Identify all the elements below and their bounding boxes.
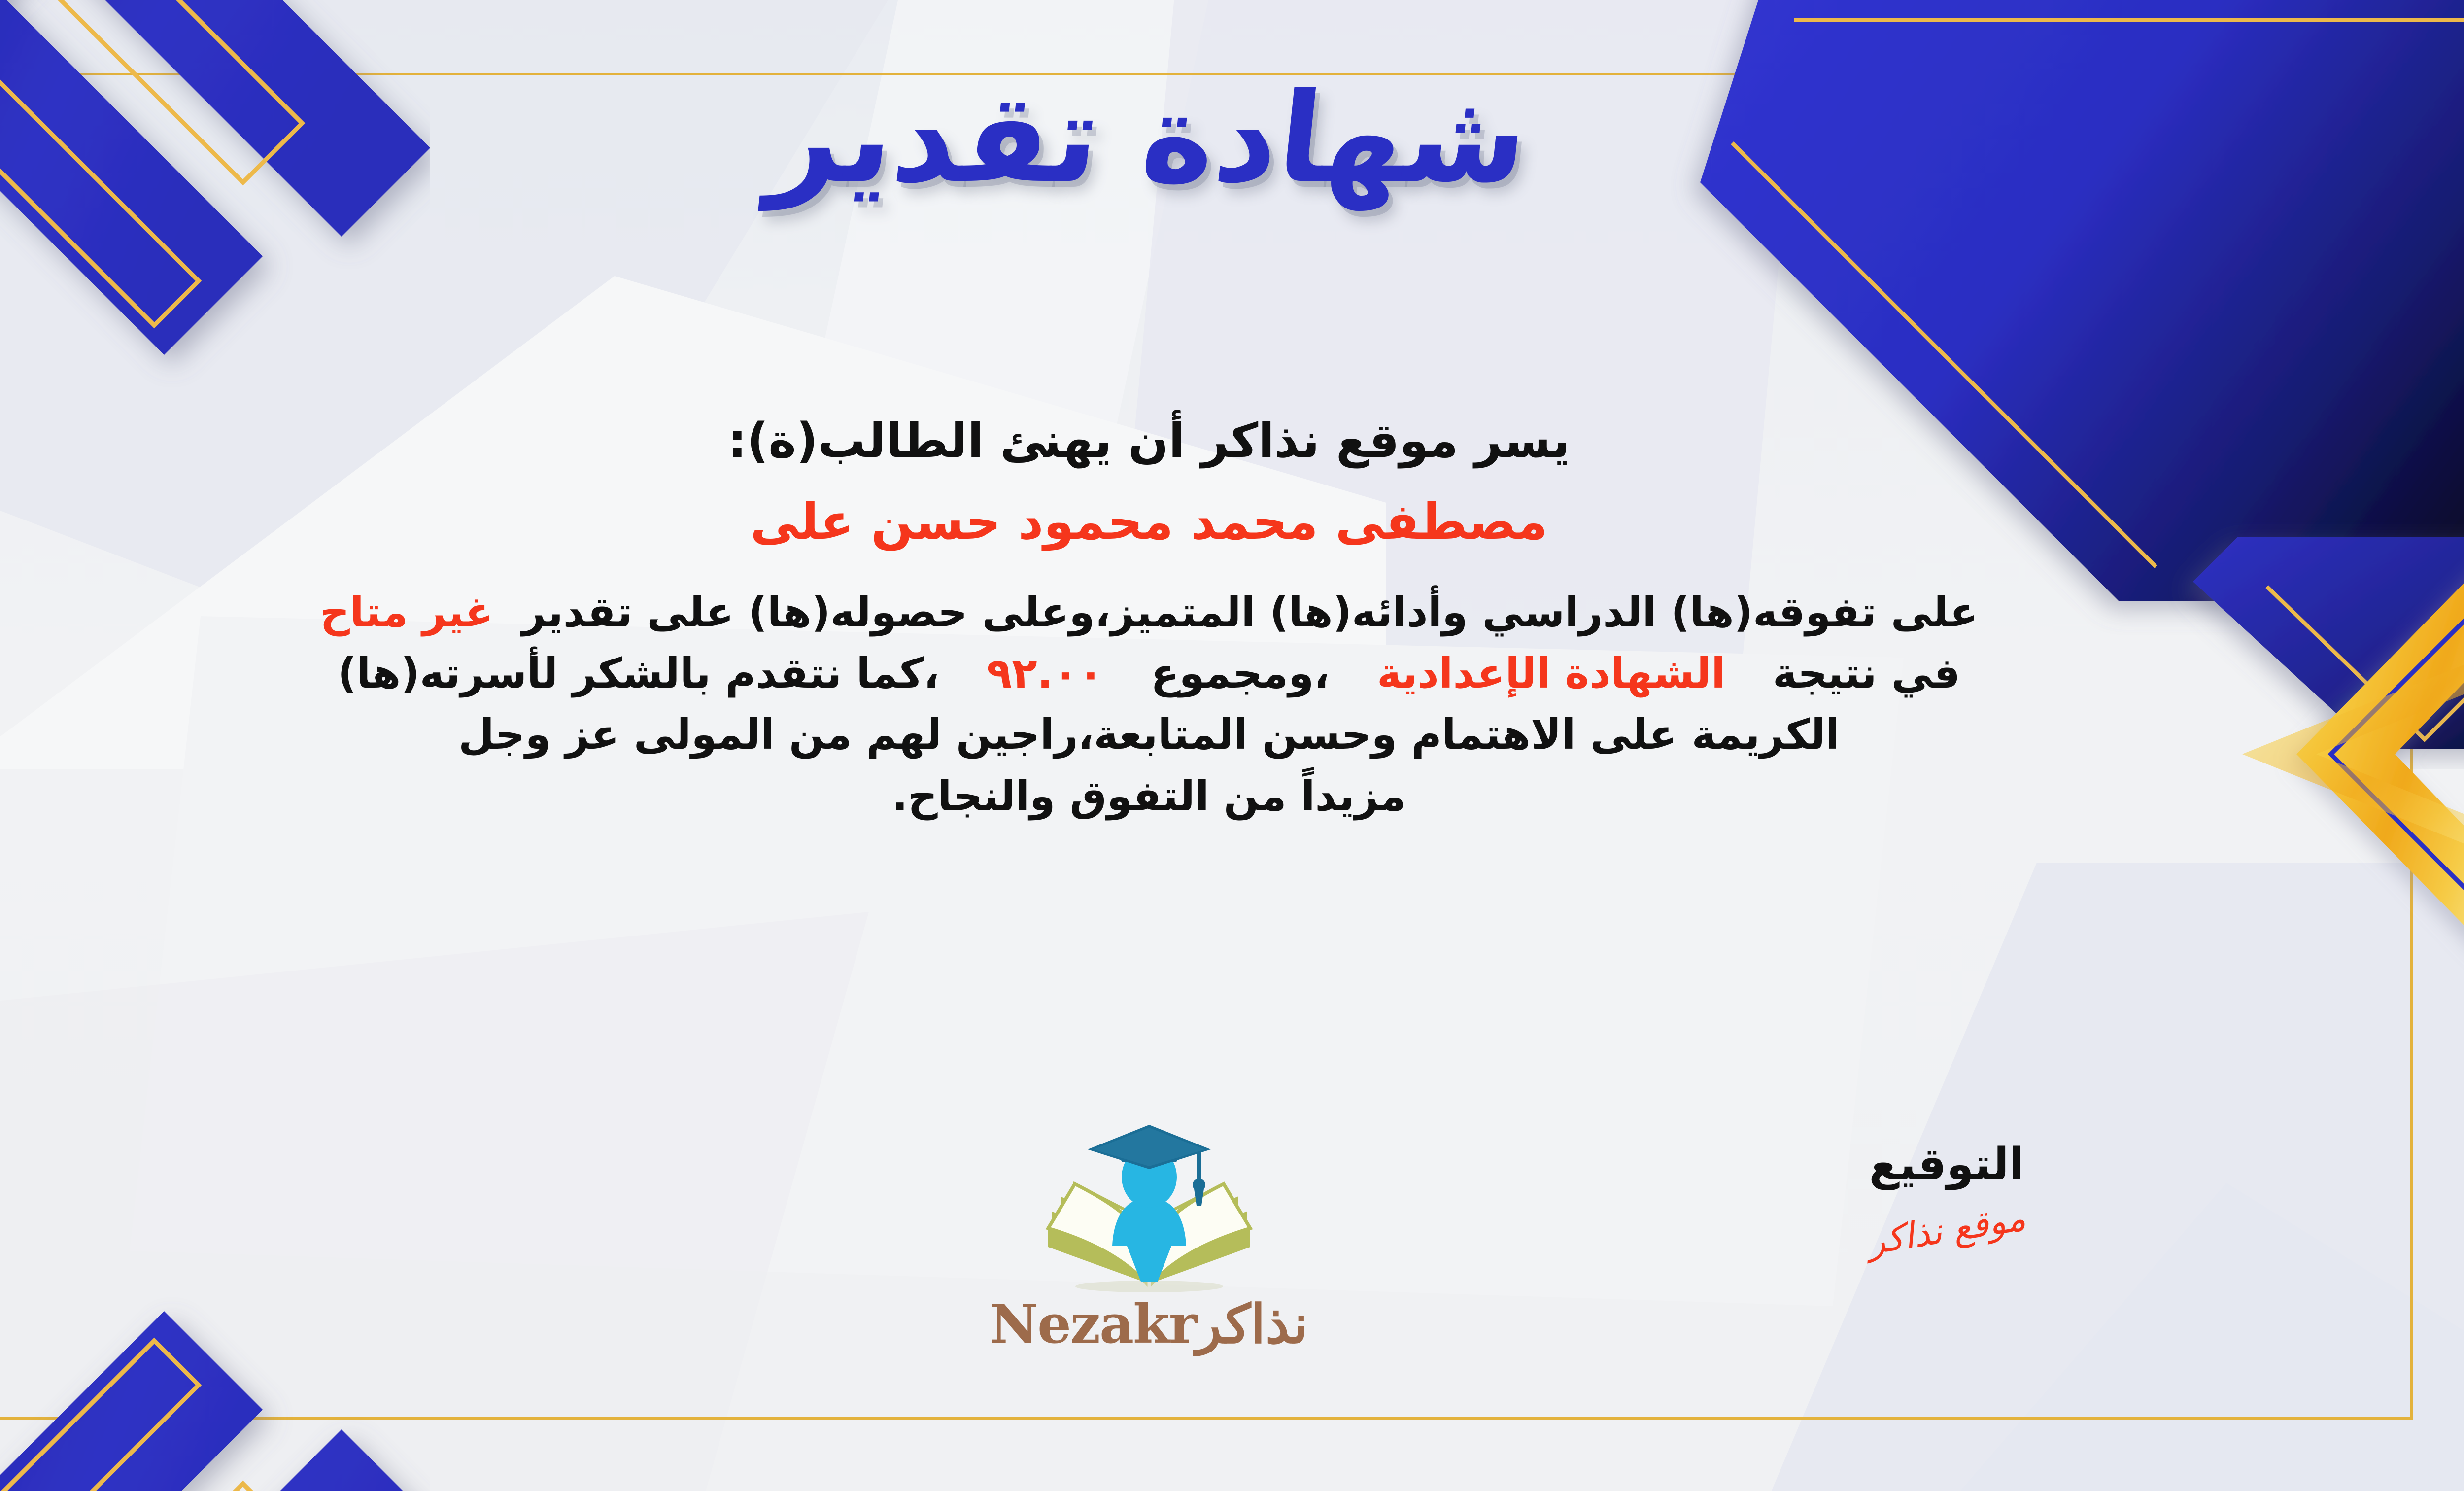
exam-name: الشهادة الإعدادية <box>1377 649 1725 697</box>
paragraph-part-6: مزيداً من التفوق والنجاح. <box>892 772 1406 820</box>
greeting-line: يسر موقع نذاكر أن يهنئ الطالب(ة): <box>0 409 2400 473</box>
student-name: مصطفى محمد محمود حسن على <box>0 490 2400 554</box>
paragraph-part-2: في نتيجة <box>1773 649 1960 697</box>
achievement-paragraph: على تفوقه(ها) الدراسي وأدائه(ها) المتميز… <box>0 582 2400 827</box>
signature-label: التوقيع <box>1818 1139 2075 1190</box>
score-value: ٩٢.٠٠ <box>987 649 1103 697</box>
paragraph-part-5: الكريمة على الاهتمام وحسن المتابعة،راجين… <box>458 710 1840 759</box>
grade-value: غير متاح <box>320 588 493 636</box>
paragraph-part-1: على تفوقه(ها) الدراسي وأدائه(ها) المتميز… <box>522 588 1978 636</box>
certificate-body: يسر موقع نذاكر أن يهنئ الطالب(ة): مصطفى … <box>0 409 2400 827</box>
paragraph-part-3: ،ومجموع <box>1151 649 1330 697</box>
paragraph-part-4: ،كما نتقدم بالشكر لأسرته(ها) <box>338 649 939 697</box>
certificate-title-wrap: شهادة تقدير <box>0 74 2464 204</box>
signature-block: التوقيع موقع نذاكر <box>1818 1139 2075 1250</box>
certificate-canvas: شهادة تقدير يسر موقع نذاكر أن يهنئ الطال… <box>0 0 2464 1491</box>
certificate-title: شهادة تقدير <box>764 74 1534 204</box>
